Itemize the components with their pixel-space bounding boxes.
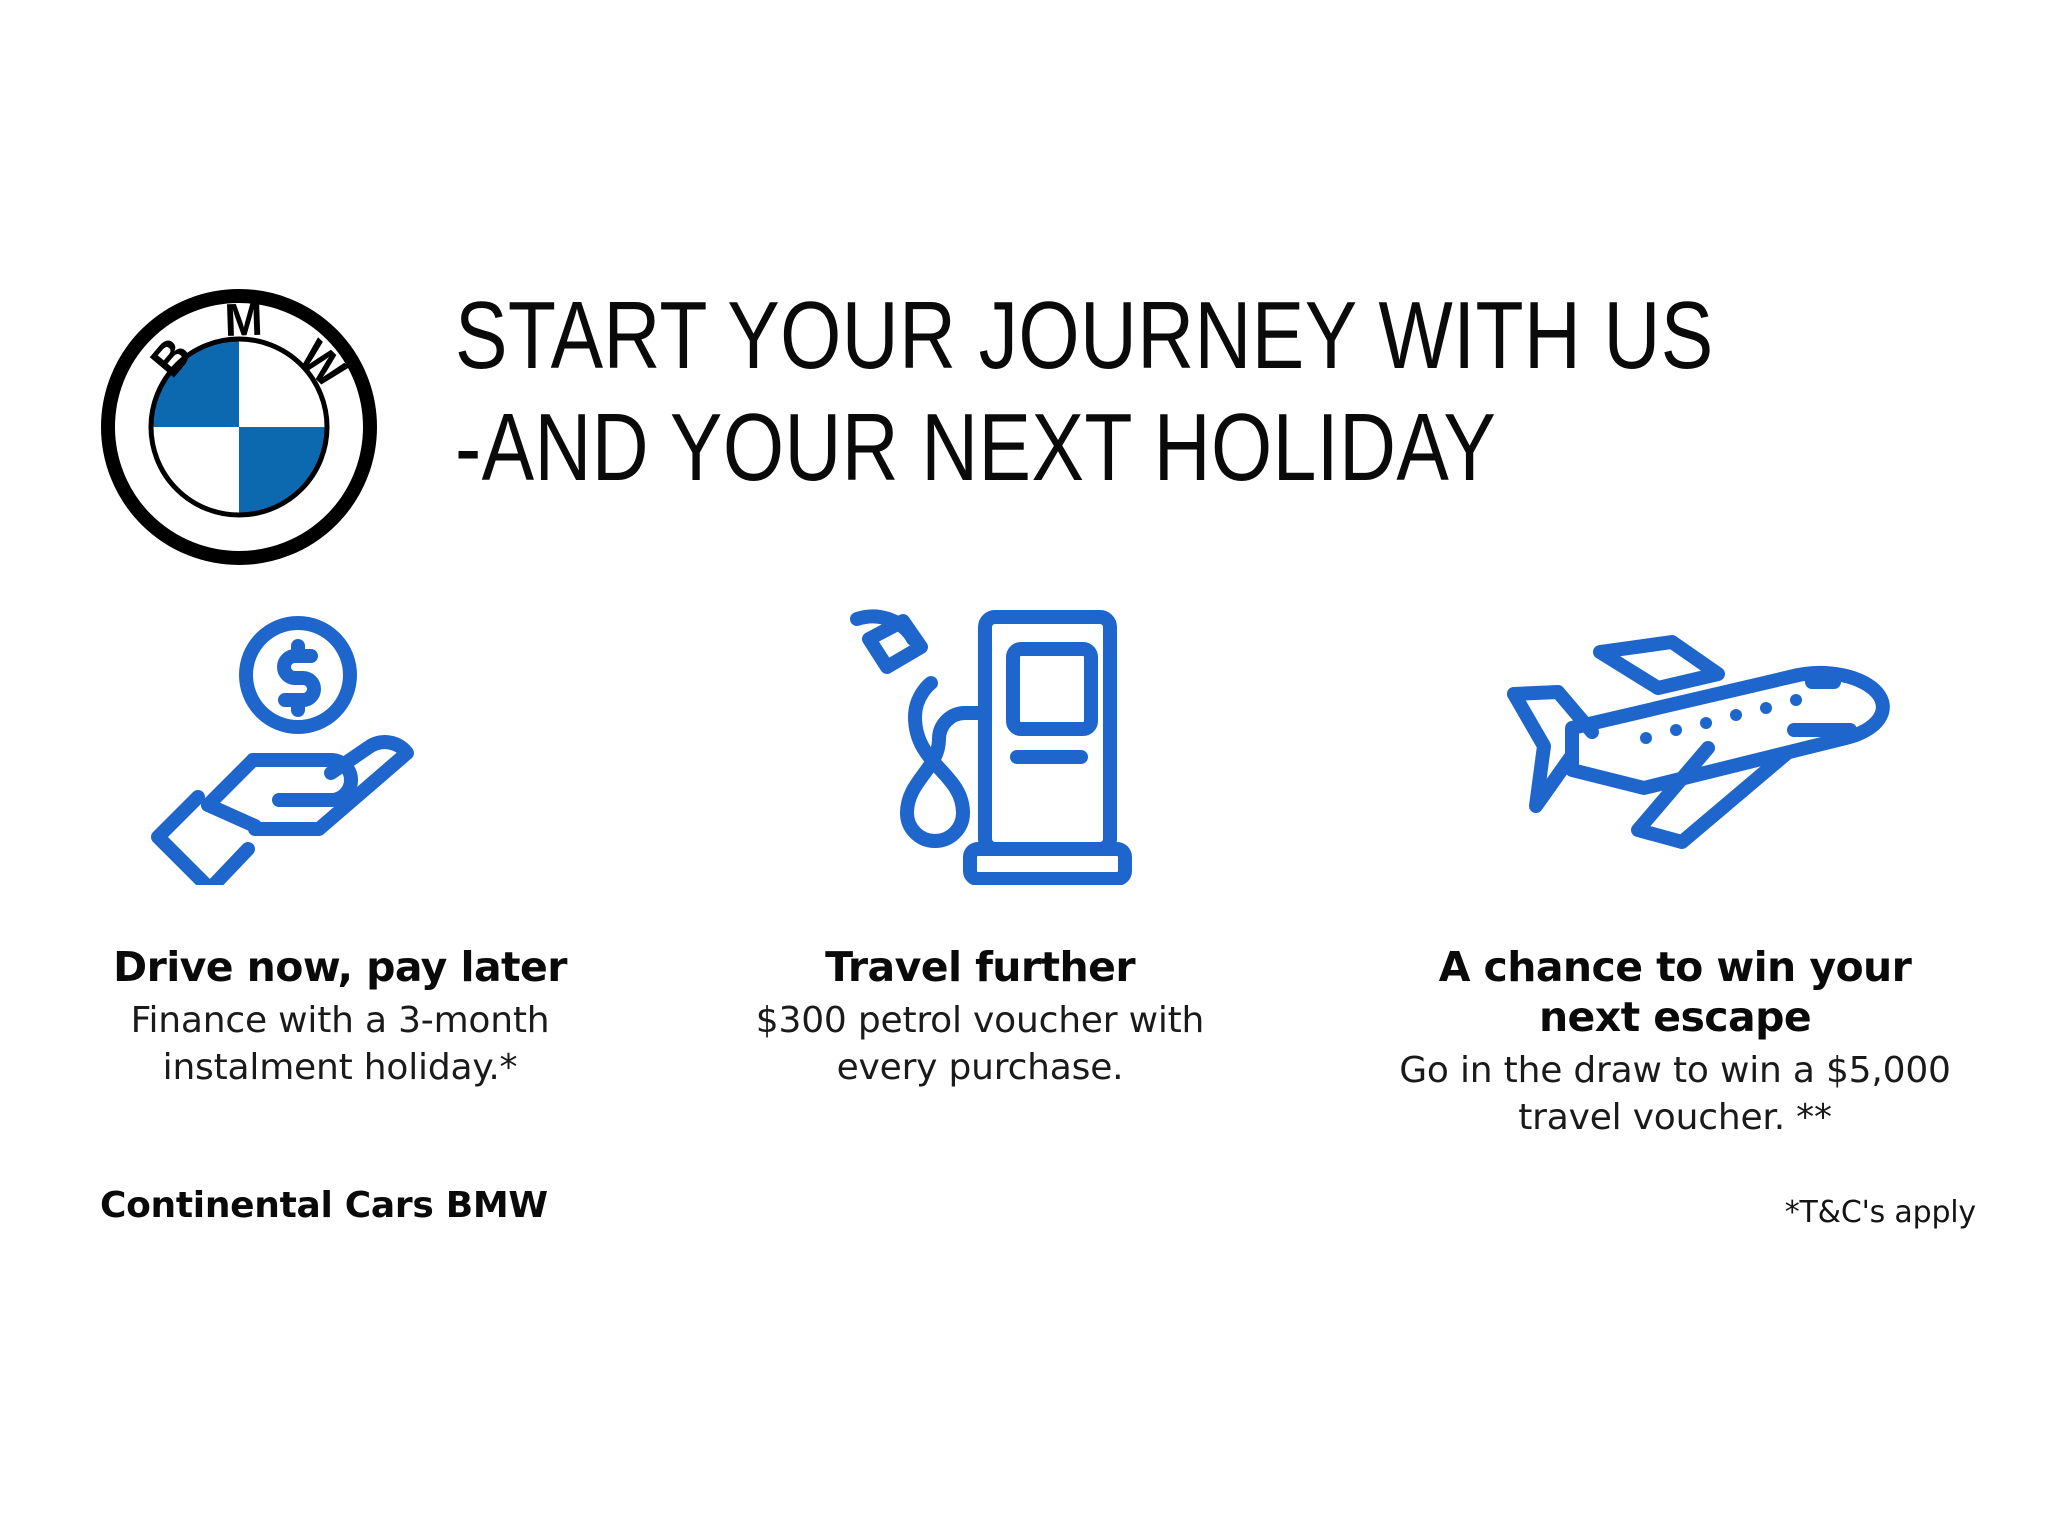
feature-text-1: Drive now, pay later Finance with a 3-mo… [70, 942, 610, 1091]
feature-subtitle-2: $300 petrol voucher with every purchase. [710, 997, 1250, 1091]
logo-letter-m: M [224, 293, 264, 346]
banner-header: B M W START YOUR JOURNEY WITH US -AND YO… [0, 0, 2048, 600]
headline-line-1: START YOUR JOURNEY WITH US [455, 280, 1685, 392]
feature-column-travel-further: Travel further $300 petrol voucher with … [700, 600, 1320, 1160]
feature-title-3: A chance to win your next escape [1395, 942, 1955, 1042]
bmw-roundel-logo: B M W [100, 288, 378, 566]
feature-subtitle-1: Finance with a 3-month instalment holida… [70, 997, 610, 1091]
feature-column-drive-now-pay-later: Drive now, pay later Finance with a 3-mo… [0, 600, 700, 1160]
feature-columns: Drive now, pay later Finance with a 3-mo… [0, 600, 2048, 1160]
airplane-icon [1340, 600, 2048, 890]
fuel-pump-icon [670, 600, 1320, 890]
dealer-name: Continental Cars BMW [100, 1185, 548, 1226]
feature-text-2: Travel further $300 petrol voucher with … [710, 942, 1250, 1091]
hand-holding-money-icon [0, 600, 700, 890]
headline-line-2: -AND YOUR NEXT HOLIDAY [455, 392, 1685, 504]
terms-and-conditions-note: *T&C's apply [1785, 1195, 1976, 1230]
headline: START YOUR JOURNEY WITH US -AND YOUR NEX… [455, 280, 1955, 504]
feature-title-1: Drive now, pay later [70, 942, 610, 992]
feature-title-2: Travel further [710, 942, 1250, 992]
feature-subtitle-3: Go in the draw to win a $5,000 travel vo… [1395, 1047, 1955, 1141]
banner-footer: Continental Cars BMW *T&C's apply [0, 1185, 2048, 1275]
feature-column-win-next-escape: A chance to win your next escape Go in t… [1320, 600, 2048, 1160]
promo-banner: B M W START YOUR JOURNEY WITH US -AND YO… [0, 0, 2048, 1536]
feature-text-3: A chance to win your next escape Go in t… [1395, 942, 1955, 1141]
